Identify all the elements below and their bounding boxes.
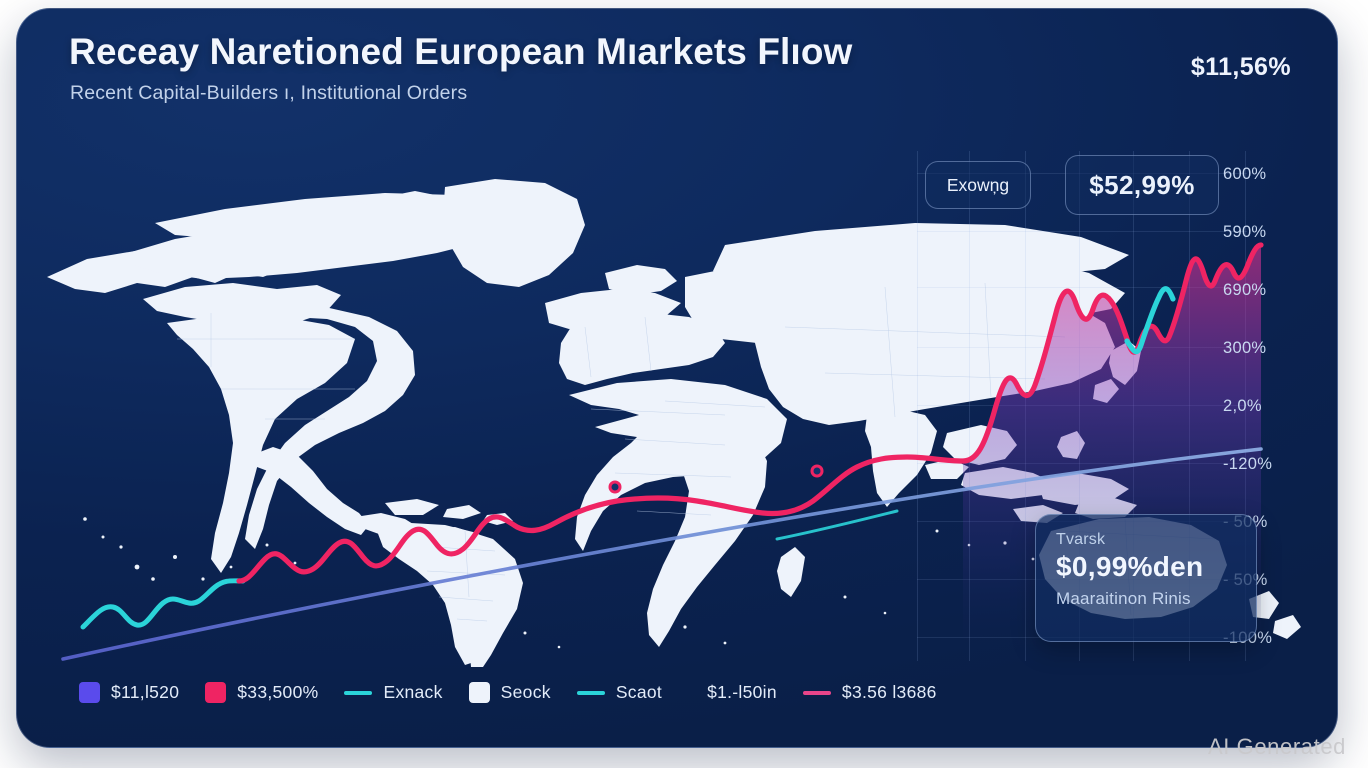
ai-generated-watermark: AI Generated xyxy=(1208,734,1346,760)
legend-swatch-line xyxy=(344,691,372,695)
y-axis-tick: -120% xyxy=(1223,455,1315,474)
legend-label: Scaot xyxy=(616,682,662,703)
y-axis-tick: 600% xyxy=(1223,165,1315,184)
y-axis-tick: 2,0% xyxy=(1223,397,1315,416)
kpi-top-value: $11,56% xyxy=(1191,53,1291,82)
legend-swatch-line xyxy=(803,691,831,695)
legend-item-7[interactable]: $3.56 l3686 xyxy=(803,682,937,703)
chart-tooltip: Tvarsk $0,99%den Maaraitinon Rinis xyxy=(1035,514,1257,642)
line-segment-cyan-left xyxy=(83,581,243,627)
page-title: Receay Naretioned European Mıarkets Flıo… xyxy=(69,31,1069,74)
legend-label: $1.-l50in xyxy=(707,682,777,703)
legend-swatch-box xyxy=(469,682,490,703)
y-axis-tick: 300% xyxy=(1223,339,1315,358)
legend-swatch-line xyxy=(577,691,605,695)
legend-item-5[interactable]: Scaot xyxy=(577,682,662,703)
line-segment-cyan-mid xyxy=(777,511,897,539)
data-point-marker xyxy=(812,466,822,476)
legend-item-6[interactable]: $1.-l50in xyxy=(688,682,777,703)
legend-swatch-box xyxy=(205,682,226,703)
page-subtitle: Recent Capital-Builders ı, Institutional… xyxy=(70,82,1069,105)
header-block: Receay Naretioned European Mıarkets Flıo… xyxy=(69,31,1069,105)
screenshot-root: Receay Naretioned European Mıarkets Flıo… xyxy=(0,0,1368,768)
legend-item-3[interactable]: Exnack xyxy=(344,682,442,703)
legend-label: $33,500% xyxy=(237,682,318,703)
tooltip-subtitle: Maaraitinon Rinis xyxy=(1056,589,1236,609)
tooltip-title: Tvarsk xyxy=(1056,531,1236,549)
legend-item-1[interactable]: $11,l520 xyxy=(79,682,179,703)
legend-label: Seock xyxy=(501,682,551,703)
dashboard-card: Receay Naretioned European Mıarkets Flıo… xyxy=(16,8,1338,748)
data-point-marker xyxy=(610,482,620,492)
legend-label: $11,l520 xyxy=(111,682,179,703)
legend-label: Exnack xyxy=(383,682,442,703)
legend-item-2[interactable]: $33,500% xyxy=(205,682,318,703)
chip-series-label[interactable]: Exowņg xyxy=(925,161,1031,209)
chart-legend: $11,l520$33,500%ExnackSeockScaot$1.-l50i… xyxy=(79,682,1277,703)
legend-label: $3.56 l3686 xyxy=(842,682,937,703)
y-axis-tick: 690% xyxy=(1223,281,1315,300)
chip-series-value[interactable]: $52,99% xyxy=(1065,155,1219,215)
legend-swatch-box xyxy=(79,682,100,703)
y-axis-tick: 590% xyxy=(1223,223,1315,242)
legend-item-4[interactable]: Seock xyxy=(469,682,551,703)
tooltip-value: $0,99%den xyxy=(1056,552,1236,583)
